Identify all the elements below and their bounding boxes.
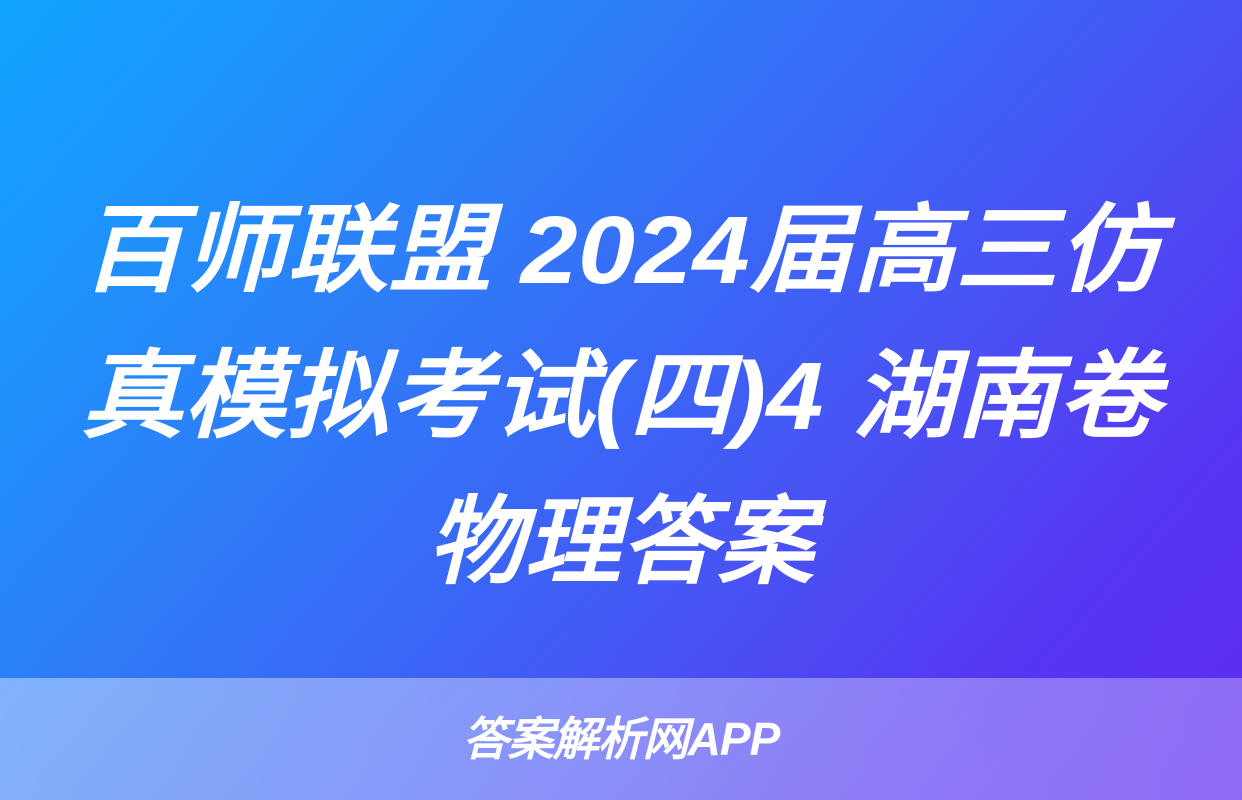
footer-brand-band: 答案解析网APP	[0, 678, 1242, 800]
footer-brand-label: 答案解析网APP	[463, 716, 780, 762]
page-title: 百师联盟 2024届高三仿 真模拟考试(四)4 湖南卷 物理答案	[0, 178, 1242, 616]
page-title-line-1: 百师联盟 2024届高三仿	[0, 178, 1242, 324]
page-title-line-2: 真模拟考试(四)4 湖南卷	[0, 324, 1242, 470]
page-title-line-3: 物理答案	[0, 470, 1242, 616]
poster-canvas: 百师联盟 2024届高三仿 真模拟考试(四)4 湖南卷 物理答案 答案解析网AP…	[0, 0, 1242, 800]
